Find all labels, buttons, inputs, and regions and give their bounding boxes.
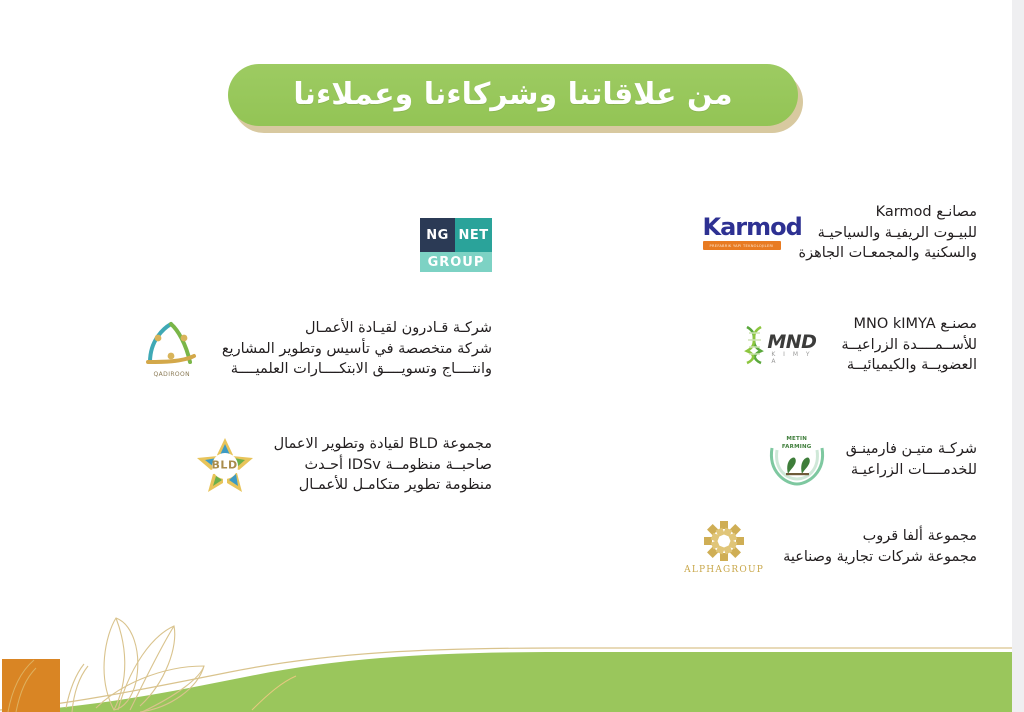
bottom-decoration <box>0 590 1012 712</box>
partner-line: مجموعة BLD لقيادة وتطوير الاعمال <box>274 434 492 455</box>
bottom-decoration-graphic <box>0 590 1012 712</box>
slide-title-badge: من علاقاتنا وشركاءنا وعملاءنا <box>228 64 798 126</box>
metin-line2: FARMING <box>766 444 828 450</box>
partner-text-alpha: مجموعة ألفا قروب مجموعة شركات تجارية وصن… <box>783 526 977 567</box>
partner-logo-metin: METIN FARMING <box>766 432 828 488</box>
partner-line: مجموعة ألفا قروب <box>783 526 977 547</box>
page-title: من علاقاتنا وشركاءنا وعملاءنا <box>293 80 732 110</box>
tri-swoosh-icon <box>140 318 202 368</box>
ngnet-net-label: NET <box>458 228 488 243</box>
partner-logo-mno: MND K I M Y A <box>741 323 823 367</box>
partner-entry-metin: شركـة متيـن فارمينـق للخدمــــات الزراعي… <box>766 432 977 488</box>
partner-entry-qadiroon: شركـة قـادرون لقيـادة الأعمـال شركة متخص… <box>140 318 492 380</box>
partner-logo-bld: BLD <box>194 435 256 495</box>
partner-line: مجموعة شركات تجارية وصناعية <box>783 547 977 568</box>
partner-line: مصانـع Karmod <box>799 202 978 223</box>
partner-logo-alpha: ALPHAGROUP <box>683 518 765 576</box>
title-badge-pill: من علاقاتنا وشركاءنا وعملاءنا <box>228 64 798 126</box>
partner-line: للخدمــــات الزراعيـة <box>846 460 977 481</box>
mno-tagline: K I M Y A <box>771 351 823 365</box>
slide-canvas: من علاقاتنا وشركاءنا وعملاءنا مصانـع Kar… <box>0 0 1012 712</box>
partners-grid: مصانـع Karmod للبيـوت الريفيـة والسياحيـ… <box>0 196 1012 596</box>
qadiroon-wordmark: QADIROON <box>140 371 204 378</box>
karmod-logo: Karmod PREFABRIK YAPI TEKNOLOJILERI <box>703 212 781 254</box>
metin-line1: METIN <box>766 436 828 442</box>
green-band <box>0 652 1012 712</box>
alpha-wordmark: ALPHAGROUP <box>683 565 765 575</box>
orange-square <box>2 659 60 712</box>
partner-entry-bld: مجموعة BLD لقيادة وتطوير الاعمال صاحبــة… <box>194 434 492 496</box>
partner-line: العضويــة والكيميائيــة <box>841 355 977 376</box>
ngnet-ng-label: NG <box>426 228 449 243</box>
ngnet-top-row: NG NET <box>420 218 492 252</box>
partner-logo-ngnet: NG NET GROUP <box>420 218 492 272</box>
partner-line: صاحبــة منظومــة IDSv أحـدث <box>274 455 492 476</box>
partner-line: شركة متخصصة في تأسيس وتطوير المشاريع <box>222 339 492 360</box>
partner-line: والسكنية والمجمعـات الجاهزة <box>799 243 978 264</box>
partner-text-mno: مصنـع MNO kIMYA للأســمــــدة الزراعيــة… <box>841 314 977 376</box>
dna-helix-icon <box>741 323 769 365</box>
ngnet-ng-cell: NG <box>420 218 455 252</box>
mno-wordmark: MND <box>767 331 816 353</box>
karmod-tagline-bar: PREFABRIK YAPI TEKNOLOJILERI <box>703 241 781 250</box>
metin-farming-logo: METIN FARMING <box>766 432 828 488</box>
alpha-group-logo: ALPHAGROUP <box>683 518 765 576</box>
page-right-margin <box>1012 0 1024 712</box>
mno-kimya-logo: MND K I M Y A <box>741 323 823 367</box>
partner-entry-mno: مصنـع MNO kIMYA للأســمــــدة الزراعيــة… <box>741 314 977 376</box>
partner-line: للبيـوت الريفيـة والسياحيـة <box>799 223 978 244</box>
partner-line: وانتــــاج وتسويــــق الابتكــــارات الع… <box>222 359 492 380</box>
partner-logo-qadiroon: QADIROON <box>140 318 204 380</box>
bld-logo: BLD <box>194 435 256 495</box>
partner-text-bld: مجموعة BLD لقيادة وتطوير الاعمال صاحبــة… <box>274 434 492 496</box>
ngnet-group-cell: GROUP <box>420 252 492 272</box>
partner-entry-alpha: مجموعة ألفا قروب مجموعة شركات تجارية وصن… <box>683 518 977 576</box>
partner-text-metin: شركـة متيـن فارمينـق للخدمــــات الزراعي… <box>846 439 977 480</box>
ng-net-group-logo: NG NET GROUP <box>420 218 492 272</box>
karmod-tagline: PREFABRIK YAPI TEKNOLOJILERI <box>709 244 773 249</box>
partner-line: منظومة تطوير متكامـل للأعمـال <box>274 475 492 496</box>
partner-line: مصنـع MNO kIMYA <box>841 314 977 335</box>
partner-text-qadiroon: شركـة قـادرون لقيـادة الأعمـال شركة متخص… <box>222 318 492 380</box>
partner-entry-ngnet: NG NET GROUP <box>420 218 492 272</box>
qadiroon-logo: QADIROON <box>140 318 204 380</box>
partner-line: شركـة متيـن فارمينـق <box>846 439 977 460</box>
karmod-wordmark: Karmod <box>703 215 781 239</box>
partner-entry-karmod: مصانـع Karmod للبيـوت الريفيـة والسياحيـ… <box>703 202 978 264</box>
partner-logo-karmod: Karmod PREFABRIK YAPI TEKNOLOJILERI <box>703 212 781 254</box>
partner-line: للأســمــــدة الزراعيــة <box>841 335 977 356</box>
gold-rosette-icon <box>683 518 765 564</box>
ngnet-net-cell: NET <box>455 218 492 252</box>
bld-wordmark: BLD <box>194 458 256 471</box>
partner-line: شركـة قـادرون لقيـادة الأعمـال <box>222 318 492 339</box>
partner-text-karmod: مصانـع Karmod للبيـوت الريفيـة والسياحيـ… <box>799 202 978 264</box>
ngnet-group-label: GROUP <box>428 255 485 270</box>
